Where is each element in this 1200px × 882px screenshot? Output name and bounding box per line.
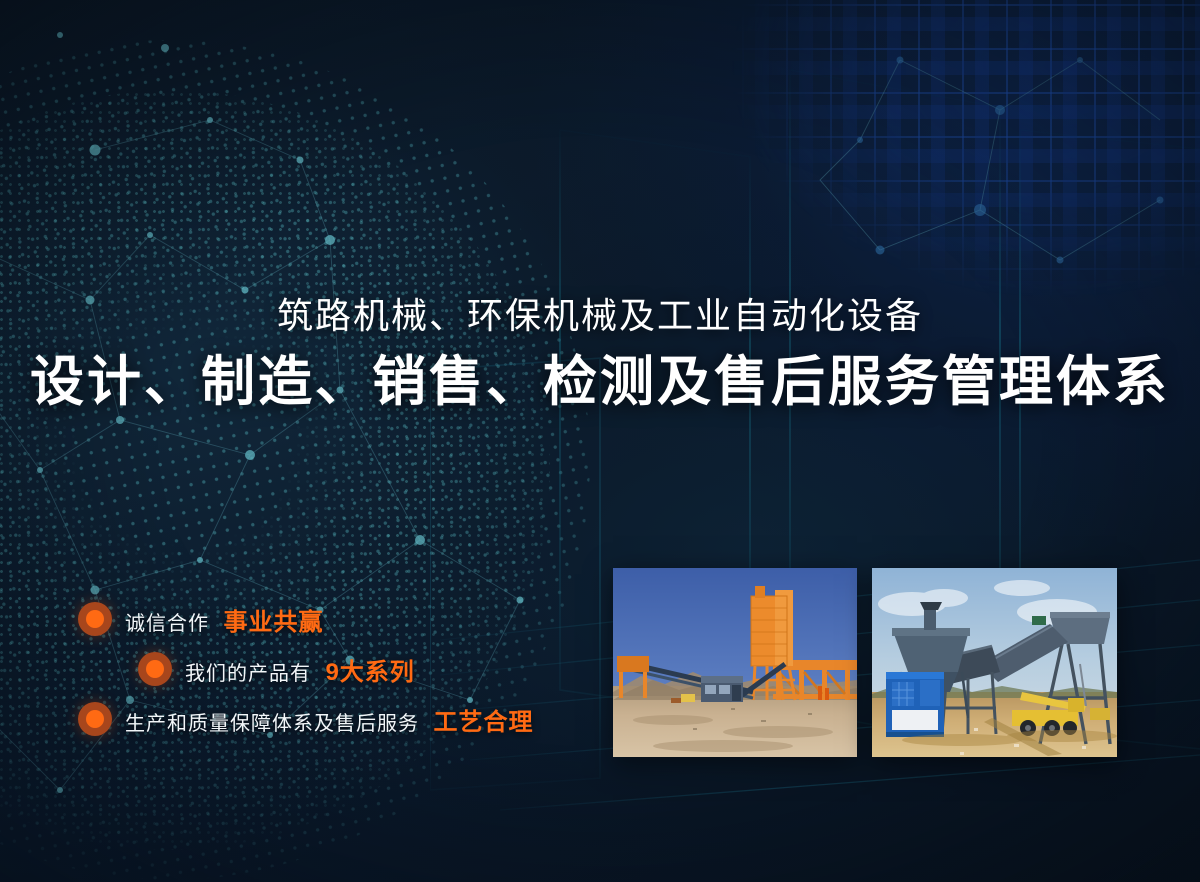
banner-subtitle: 筑路机械、环保机械及工业自动化设备 <box>0 296 1200 336</box>
concrete-batching-plant-photo <box>613 568 857 757</box>
bullet-highlight-1: 事业共赢 <box>223 609 323 636</box>
banner-title: 设计、制造、销售、检测及售后服务管理体系 <box>0 352 1200 412</box>
orange-dot-icon <box>78 702 112 736</box>
hero-banner: 筑路机械、环保机械及工业自动化设备 设计、制造、销售、检测及售后服务管理体系 诚… <box>0 0 1200 882</box>
bullet-highlight-3: 工艺合理 <box>433 709 533 736</box>
list-item: 我们的产品有 9大系列 <box>78 644 598 694</box>
list-item: 生产和质量保障体系及售后服务 工艺合理 <box>78 694 598 744</box>
bullet-label-3: 生产和质量保障体系及售后服务 <box>125 713 419 735</box>
bullet-label-2: 我们的产品有 <box>185 663 311 685</box>
bullet-highlight-2: 9大系列 <box>325 659 414 686</box>
headline-block: 筑路机械、环保机械及工业自动化设备 设计、制造、销售、检测及售后服务管理体系 <box>0 296 1200 412</box>
orange-dot-icon <box>138 652 172 686</box>
feature-bullet-list: 诚信合作 事业共赢 我们的产品有 9大系列 生产和质量保障体系及售后服务 工艺合… <box>78 594 598 744</box>
dotted-globe-graphic <box>0 0 668 882</box>
bullet-label-1: 诚信合作 <box>125 613 209 635</box>
mobile-batching-plant-photo <box>872 568 1117 757</box>
list-item: 诚信合作 事业共赢 <box>78 594 598 644</box>
orange-dot-icon <box>78 602 112 636</box>
